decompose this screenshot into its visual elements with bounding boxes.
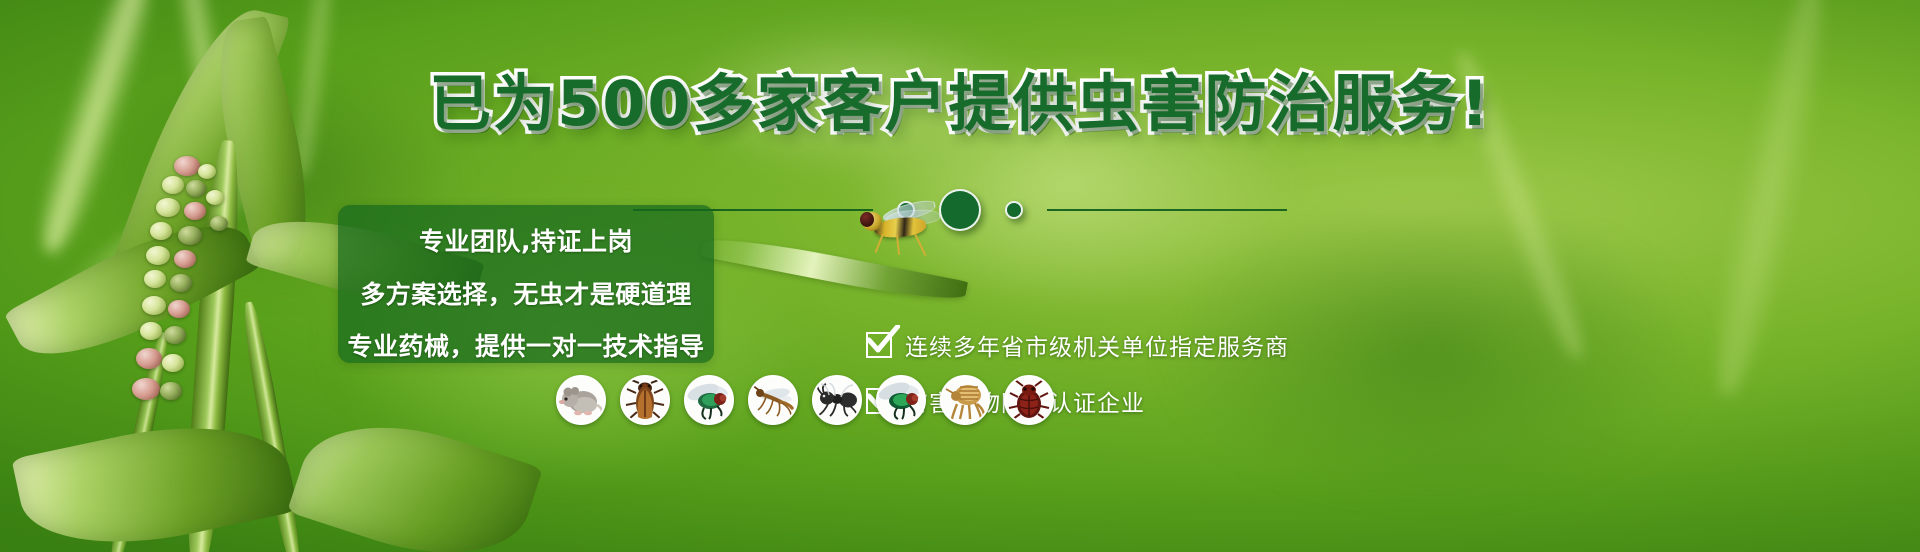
divider-rule-right bbox=[1047, 209, 1287, 211]
ant-icon[interactable] bbox=[812, 375, 862, 425]
mosquito-icon[interactable] bbox=[748, 375, 798, 425]
selling-point-line-2: 多方案选择，无虫才是硬道理 bbox=[338, 275, 714, 311]
pest-icon-row bbox=[556, 375, 1054, 425]
credential-label: 连续多年省市级机关单位指定服务商 bbox=[905, 328, 1289, 362]
fly-icon[interactable] bbox=[684, 375, 734, 425]
selling-point-line-3: 专业药械，提供一对一技术指导 bbox=[338, 327, 714, 363]
blowfly-icon[interactable] bbox=[876, 375, 926, 425]
hoverfly-icon bbox=[852, 196, 962, 258]
cockroach-icon[interactable] bbox=[620, 375, 670, 425]
promo-banner: 已为500多家客户提供虫害防治服务! 专业团队,持证上岗 多方案选择，无虫才是硬… bbox=[0, 0, 1920, 552]
page-title: 已为500多家客户提供虫害防治服务! bbox=[0, 72, 1920, 135]
headline-text: 已为500多家客户提供虫害防治服务! bbox=[429, 72, 1491, 135]
bedbug-icon[interactable] bbox=[1004, 375, 1054, 425]
selling-points-panel: 专业团队,持证上岗 多方案选择，无虫才是硬道理 专业药械，提供一对一技术指导 bbox=[338, 205, 714, 363]
divider-dot-small-right bbox=[1005, 201, 1023, 219]
checkbox-checked-icon bbox=[866, 332, 892, 358]
selling-point-line-1: 专业团队,持证上岗 bbox=[338, 222, 714, 258]
flea-icon[interactable] bbox=[940, 375, 990, 425]
rodent-icon[interactable] bbox=[556, 375, 606, 425]
list-item: 连续多年省市级机关单位指定服务商 bbox=[866, 328, 1289, 362]
